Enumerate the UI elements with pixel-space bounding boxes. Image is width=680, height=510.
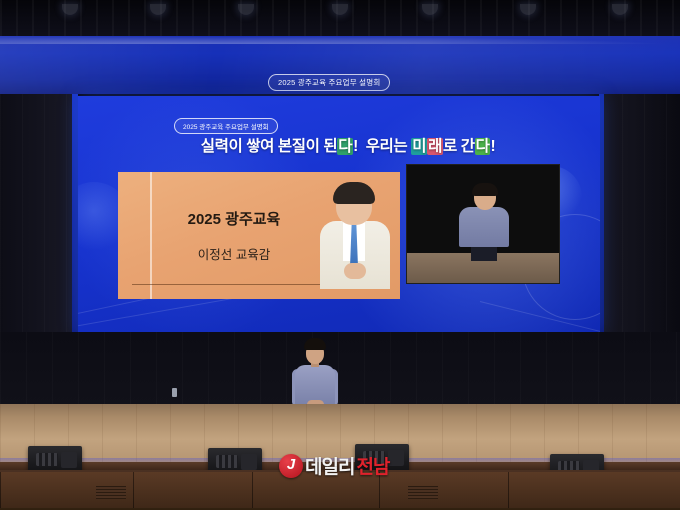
ceiling-light xyxy=(520,4,536,15)
apron-panel xyxy=(379,472,509,508)
watermark-text-primary: 데일리 xyxy=(305,452,354,479)
monitor-face xyxy=(388,450,404,466)
hall-banner: 2025 광주교육 주요업무 설명회 실력이 쌓여 본질이 된다! 우리는 미래… xyxy=(0,36,680,94)
screen-headline-accent-green: 다 xyxy=(337,138,353,155)
apron-vent xyxy=(96,486,126,499)
ceiling-light xyxy=(238,4,254,15)
right-wall xyxy=(600,94,680,334)
screen-headline-seg: ! 우리는 xyxy=(353,138,411,155)
monitor-face xyxy=(61,452,77,468)
apron-panel xyxy=(133,472,253,508)
slide-subtitle: 이정선 교육감 xyxy=(154,244,314,263)
watermark-text-accent: 전남 xyxy=(356,452,389,479)
screen-headline-accent-teal: 미 xyxy=(411,138,427,155)
screen-badge: 2025 광주교육 주요업무 설명회 xyxy=(174,118,278,134)
screen-headline-seg: 로 간 xyxy=(443,138,475,155)
monitor-grille xyxy=(216,455,238,468)
superintendent-portrait xyxy=(318,185,392,289)
screen-headline-seg: ! xyxy=(490,138,495,155)
daily-jeonnam-logo-icon: J xyxy=(279,454,303,478)
feed-speaker-hair xyxy=(472,183,498,196)
screen-headline-accent-pink: 래 xyxy=(427,138,443,155)
screen-headline-seg: 실력이 쌓여 본질이 된 xyxy=(201,138,337,155)
ceiling-light xyxy=(612,4,628,15)
slide-vertical-rule xyxy=(150,172,152,299)
slide-card: 2025 광주교육 이정선 교육감 xyxy=(118,172,400,299)
logo-letter: J xyxy=(287,457,295,472)
slide-title: 2025 광주교육 xyxy=(154,208,314,229)
screen-headline: 실력이 쌓여 본질이 된다! 우리는 미래로 간다! xyxy=(98,134,598,156)
portrait-hair xyxy=(333,182,375,204)
ceiling-light xyxy=(332,4,348,15)
speaker-hair xyxy=(304,338,326,350)
feed-speaker xyxy=(459,185,509,259)
feed-speaker-legs xyxy=(471,245,497,261)
banner-badge: 2025 광주교육 주요업무 설명회 xyxy=(268,74,390,91)
banner-headline: 실력이 쌓여 본질이 된다! 우리는 미래로 간다! xyxy=(26,92,526,94)
screen-headline-accent-lime: 다 xyxy=(475,138,491,155)
portrait-hands xyxy=(344,263,366,279)
ceiling-light xyxy=(62,4,78,15)
ceiling-light xyxy=(422,4,438,15)
ceiling-light xyxy=(150,4,166,15)
monitor-face xyxy=(241,454,257,470)
watermark: J 데일리 전남 xyxy=(279,452,389,479)
auditorium-scene: 2025 광주교육 주요업무 설명회 실력이 쌓여 본질이 된다! 우리는 미래… xyxy=(0,0,680,510)
monitor-grille xyxy=(36,453,58,466)
apron-vent xyxy=(408,486,438,499)
feed-speaker-torso xyxy=(459,207,509,247)
live-camera-feed: 이정선 교육감 xyxy=(406,164,560,284)
projection-screen: 2025 광주교육 주요업무 설명회 실력이 쌓여 본질이 된다! 우리는 미래… xyxy=(78,96,600,332)
wall-switch-plate xyxy=(172,388,177,397)
apron-panel xyxy=(508,472,680,508)
left-wall xyxy=(0,94,76,334)
